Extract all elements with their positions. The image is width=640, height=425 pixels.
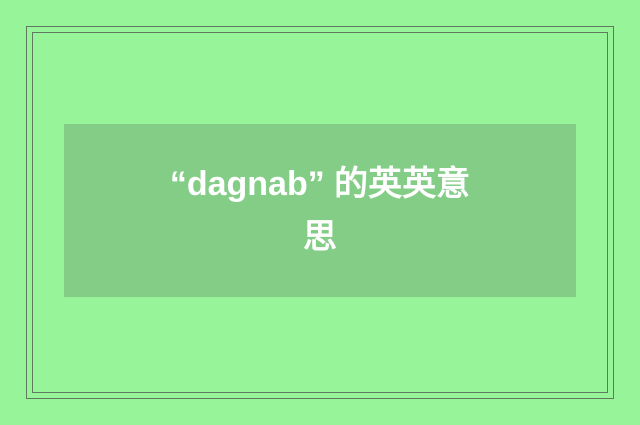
poster-canvas: “dagnab” 的英英意思 [0,0,640,425]
title-panel: “dagnab” 的英英意思 [64,124,576,297]
page-title: “dagnab” 的英英意思 [155,158,485,263]
